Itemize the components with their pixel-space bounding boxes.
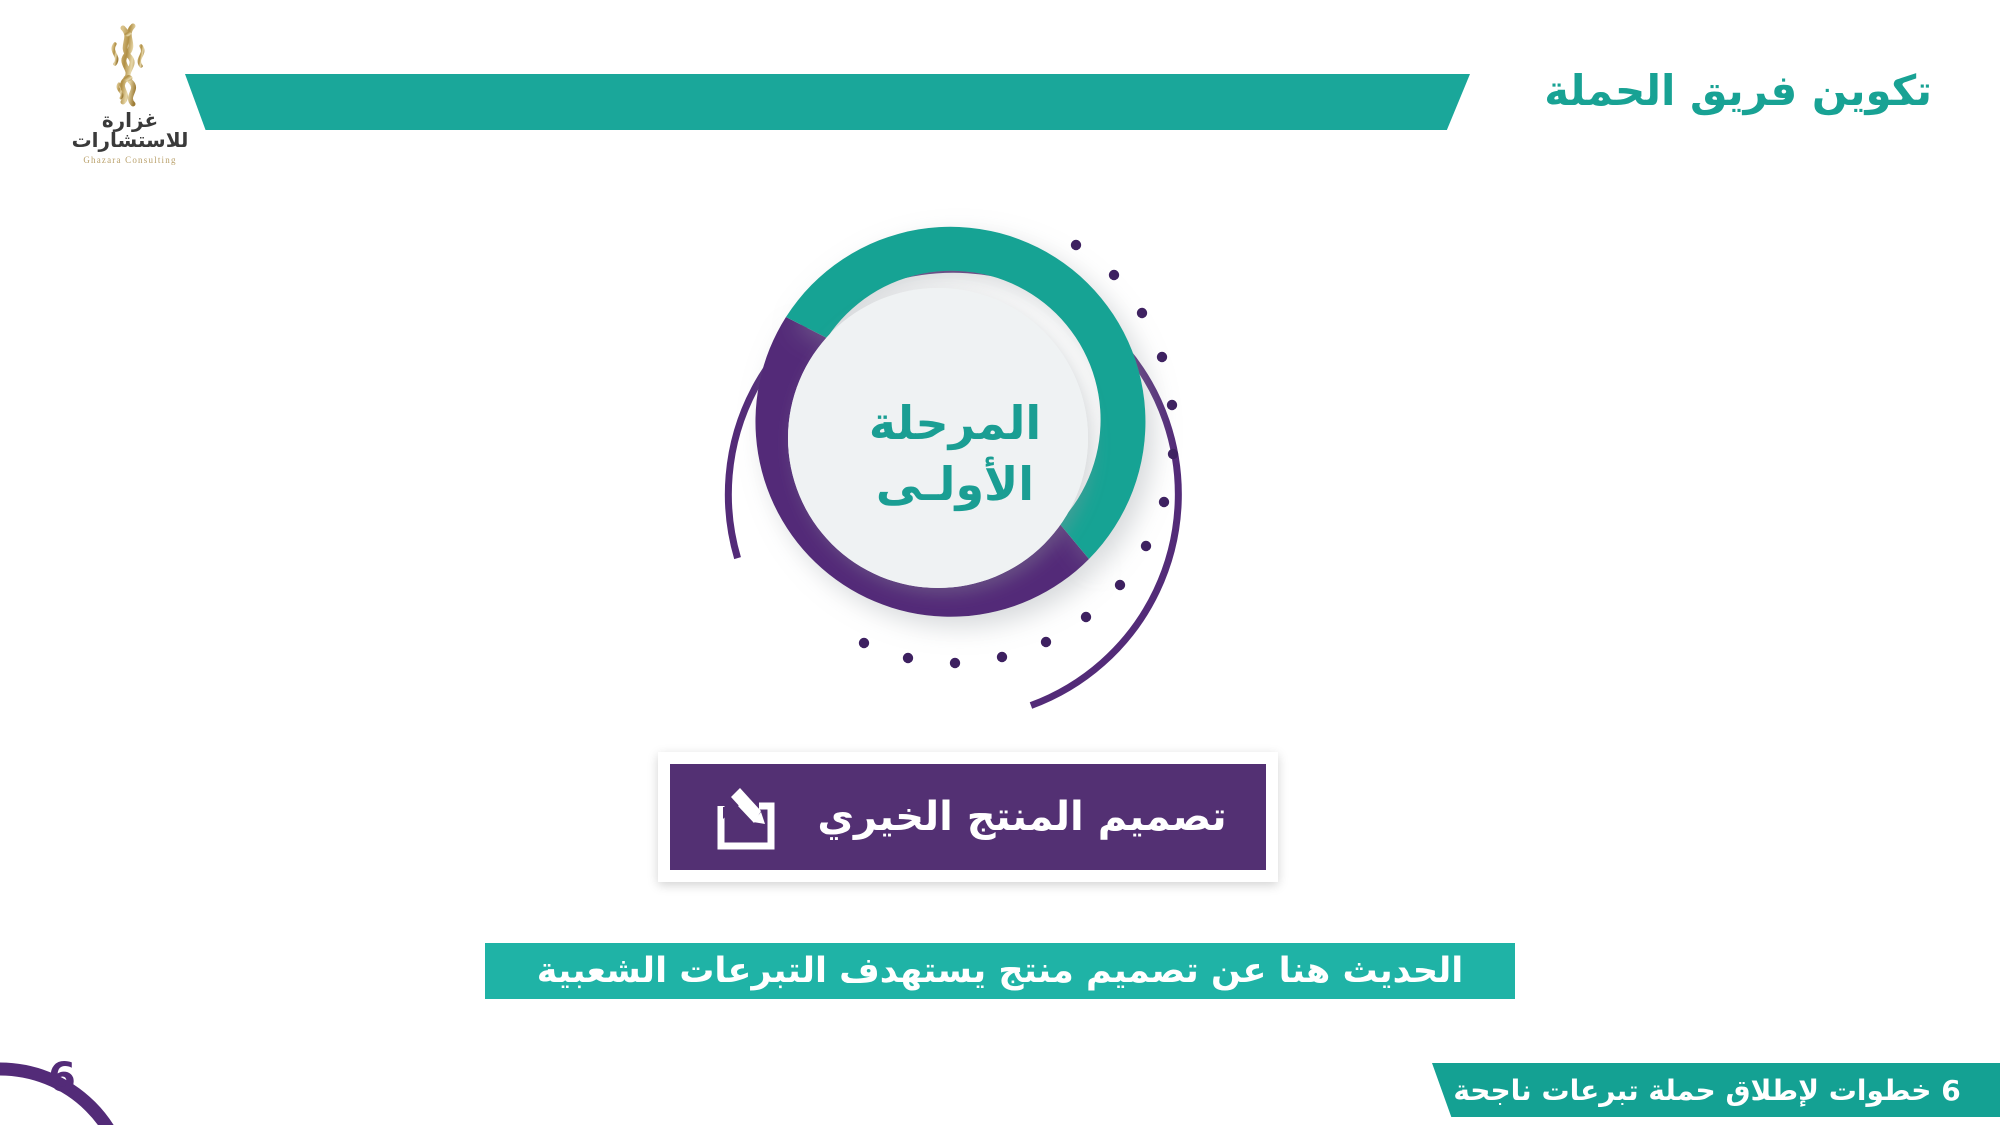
footer-bar: 6 خطوات لإطلاق حملة تبرعات ناجحة: [1432, 1063, 2000, 1117]
edit-pencil-square-icon: [709, 780, 783, 854]
logo-arabic-name: غزارة للاستشارات: [55, 110, 205, 150]
brand-logo: غزارة للاستشارات Ghazara Consulting: [55, 22, 205, 144]
product-label-card[interactable]: تصميم المنتج الخيري: [658, 752, 1278, 882]
logo-calligraphy-mark: [75, 22, 185, 108]
page-number: 6: [48, 1055, 76, 1101]
product-label-text: تصميم المنتج الخيري: [817, 794, 1226, 840]
stage-circle-graphic: المرحلة الأولـى: [690, 205, 1220, 715]
logo-english-name: Ghazara Consulting: [55, 155, 205, 165]
product-label-inner: تصميم المنتج الخيري: [670, 764, 1266, 870]
caption-text: الحديث هنا عن تصميم منتج يستهدف التبرعات…: [537, 954, 1464, 989]
footer-text: 6 خطوات لإطلاق حملة تبرعات ناجحة: [1432, 1063, 2000, 1117]
page-title: تكوين فريق الحملة: [1292, 66, 1932, 115]
slide-canvas: غزارة للاستشارات Ghazara Consulting تكوي…: [0, 0, 2000, 1125]
corner-decorative-arc: [0, 1007, 190, 1125]
caption-banner: الحديث هنا عن تصميم منتج يستهدف التبرعات…: [485, 943, 1515, 999]
header-accent-bar: [185, 74, 1470, 130]
inner-disc-highlight: [788, 288, 1088, 588]
